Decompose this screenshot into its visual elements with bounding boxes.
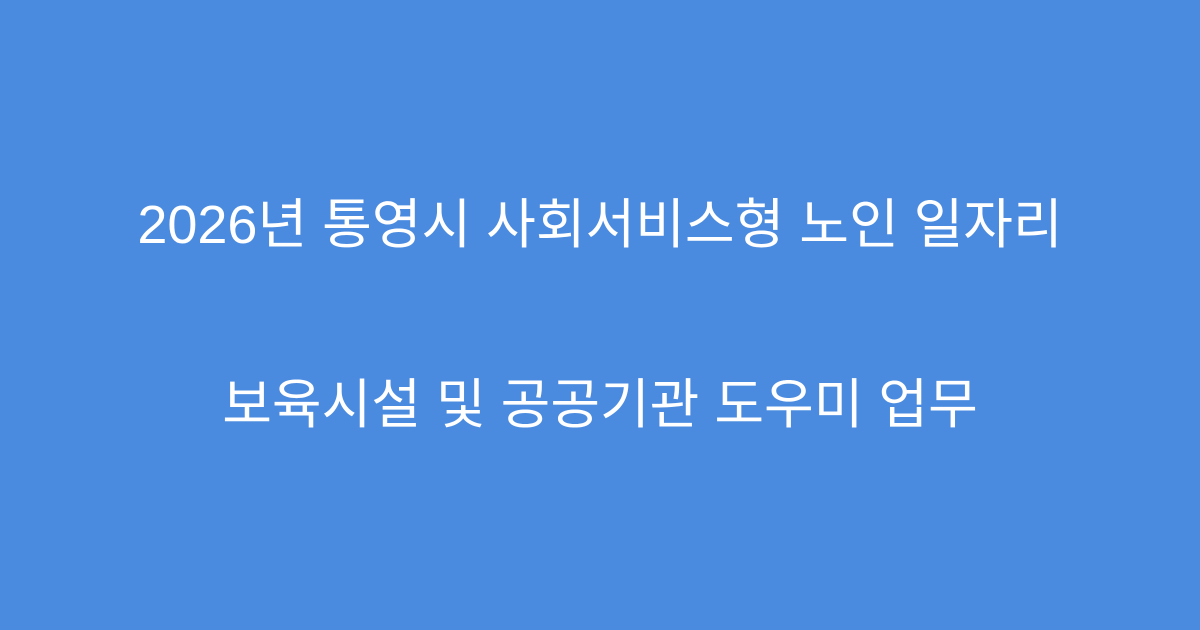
og-share-card: 2026년 통영시 사회서비스형 노인 일자리 보육시설 및 공공기관 도우미 … xyxy=(0,0,1200,630)
card-title: 2026년 통영시 사회서비스형 노인 일자리 보육시설 및 공공기관 도우미 … xyxy=(50,75,1150,555)
card-title-line-1: 2026년 통영시 사회서비스형 노인 일자리 xyxy=(50,195,1150,255)
card-title-line-2: 보육시설 및 공공기관 도우미 업무 xyxy=(50,375,1150,435)
